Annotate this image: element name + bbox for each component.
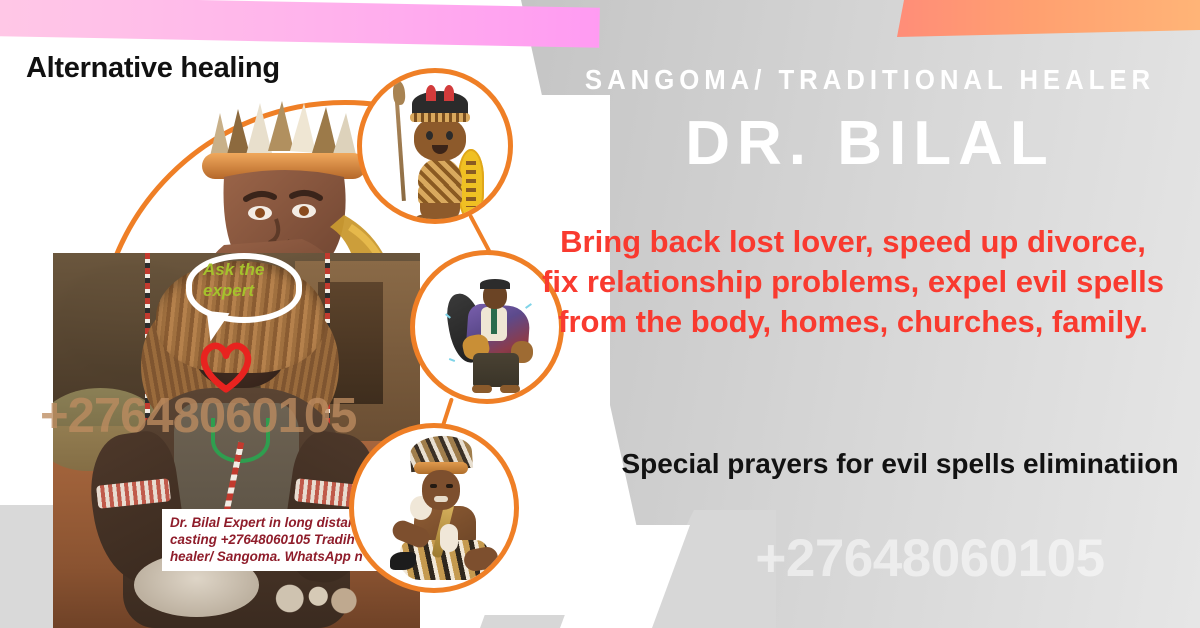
spear-head-icon (392, 81, 406, 106)
figure-head (414, 117, 466, 161)
prayers-text: Special prayers for evil spells eliminat… (620, 445, 1180, 482)
figure-head (422, 470, 460, 510)
figure-eye-left (426, 131, 433, 140)
figure-pants (473, 353, 519, 387)
heart-icon (196, 337, 256, 393)
figure-tie (491, 308, 497, 334)
figure-shoe-left (472, 385, 492, 393)
figure-eye-left (430, 484, 437, 488)
sparkle-icon-b (525, 303, 532, 309)
figure-eye-right (446, 484, 453, 488)
photo-divining-stones (266, 576, 361, 621)
caption-line-2: casting +27648060105 Tradih (170, 531, 373, 548)
speech-bubble-text: Ask the expert (203, 260, 311, 301)
figure-mouth (434, 496, 448, 502)
bird-icon (390, 552, 416, 570)
main-title: DR. BILAL (560, 108, 1180, 179)
caption-line-3: healer/ Sangoma. WhatsApp n (170, 548, 373, 565)
sparkle-icon-c (449, 358, 455, 362)
photo-caption: Dr. Bilal Expert in long distan casting … (162, 509, 380, 571)
subtitle: SANGOMA/ TRADITIONAL HEALER (585, 64, 1155, 96)
figure-fur-arm (440, 524, 458, 552)
figure-skirt (418, 185, 462, 205)
page-title: Alternative healing (26, 52, 280, 85)
services-text: Bring back lost lover, speed up divorce,… (538, 222, 1168, 342)
shield-icon (458, 149, 484, 221)
figure-headband (410, 113, 470, 122)
spear-icon (394, 89, 406, 201)
figure-hat (480, 279, 510, 289)
figure-eye-right (446, 131, 453, 140)
poster-canvas: Alternative healing (0, 0, 1200, 628)
circle-image-cartoon-zulu-warrior-boy (357, 68, 513, 224)
gray-bottom-left-block (0, 505, 54, 628)
caption-line-1: Dr. Bilal Expert in long distan (170, 514, 373, 531)
figure-feet (416, 213, 464, 222)
pink-top-bar (0, 0, 600, 48)
figure-shoe-right (500, 385, 520, 393)
phone-watermark: +27648060105 (660, 528, 1200, 589)
circle-image-crouching-zulu-warrior (349, 423, 519, 593)
